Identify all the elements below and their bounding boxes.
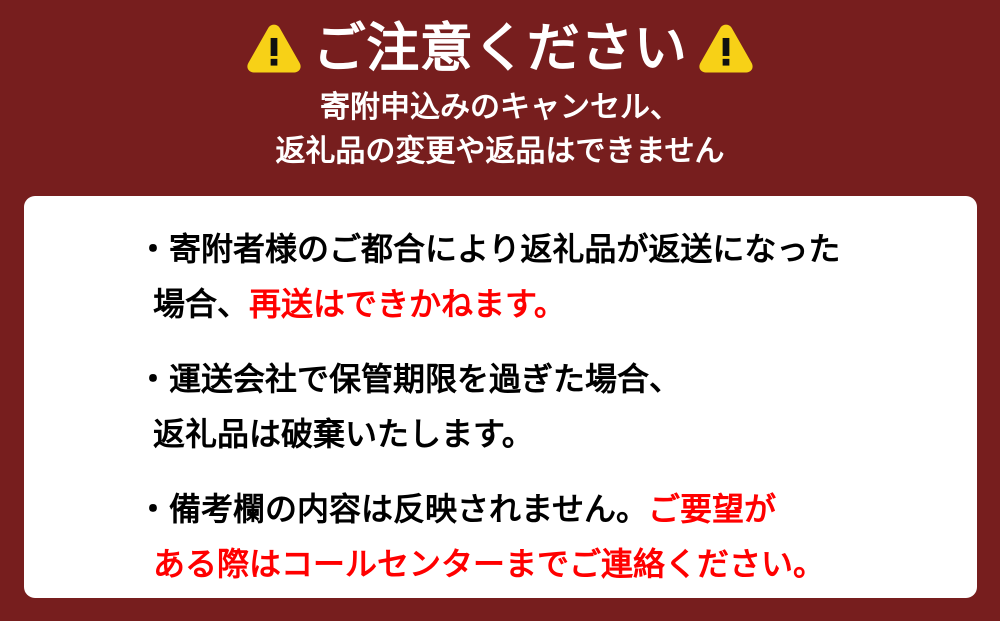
subtitle-line-1: 寄附申込みのキャンセル、 <box>275 86 724 130</box>
notice-card: ・寄附者様のご都合により返礼品が返送になった 場合、再送はできかねます。 ・運送… <box>24 196 977 598</box>
warning-triangle-icon <box>245 20 303 78</box>
notice-text: ・備考欄の内容は反映されません。 <box>137 491 648 527</box>
notice-item: ・寄附者様のご都合により返礼品が返送になった 場合、再送はできかねます。 <box>137 222 947 332</box>
notice-item: ・備考欄の内容は反映されません。ご要望が ある際はコールセンターまでご連絡くださ… <box>137 482 947 592</box>
notice-text: ・寄附者様のご都合により返礼品が返送になった <box>137 231 840 267</box>
notice-line: ・備考欄の内容は反映されません。ご要望が <box>137 482 947 537</box>
notice-text: 返礼品は破棄いたします。 <box>153 416 534 452</box>
notice-text: ・運送会社で保管期限を過ぎた場合、 <box>137 361 681 397</box>
headline: ご注意ください <box>245 16 756 82</box>
notice-line: 場合、再送はできかねます。 <box>137 277 947 332</box>
notice-text: 場合、 <box>153 286 249 322</box>
warning-triangle-icon <box>697 20 755 78</box>
notice-line: ・寄附者様のご都合により返礼品が返送になった <box>137 222 947 277</box>
notice-banner: ご注意ください 寄附申込みのキャンセル、 返礼品の変更や返品はできません ・寄附… <box>0 0 1000 621</box>
notice-line: ある際はコールセンターまでご連絡ください。 <box>137 537 947 592</box>
banner-header: ご注意ください 寄附申込みのキャンセル、 返礼品の変更や返品はできません <box>0 0 1000 196</box>
notice-item: ・運送会社で保管期限を過ぎた場合、 返礼品は破棄いたします。 <box>137 352 947 462</box>
page-title: ご注意ください <box>313 19 688 79</box>
subtitle-line-2: 返礼品の変更や返品はできません <box>275 130 724 174</box>
notice-text-emphasis: ある際はコールセンターまでご連絡ください。 <box>153 546 825 582</box>
notice-text-emphasis: 再送はできかねます。 <box>249 286 566 322</box>
banner-subtitle: 寄附申込みのキャンセル、 返礼品の変更や返品はできません <box>275 86 724 174</box>
notice-line: 返礼品は破棄いたします。 <box>137 407 947 462</box>
notice-line: ・運送会社で保管期限を過ぎた場合、 <box>137 352 947 407</box>
notice-text-emphasis: ご要望が <box>648 491 776 527</box>
